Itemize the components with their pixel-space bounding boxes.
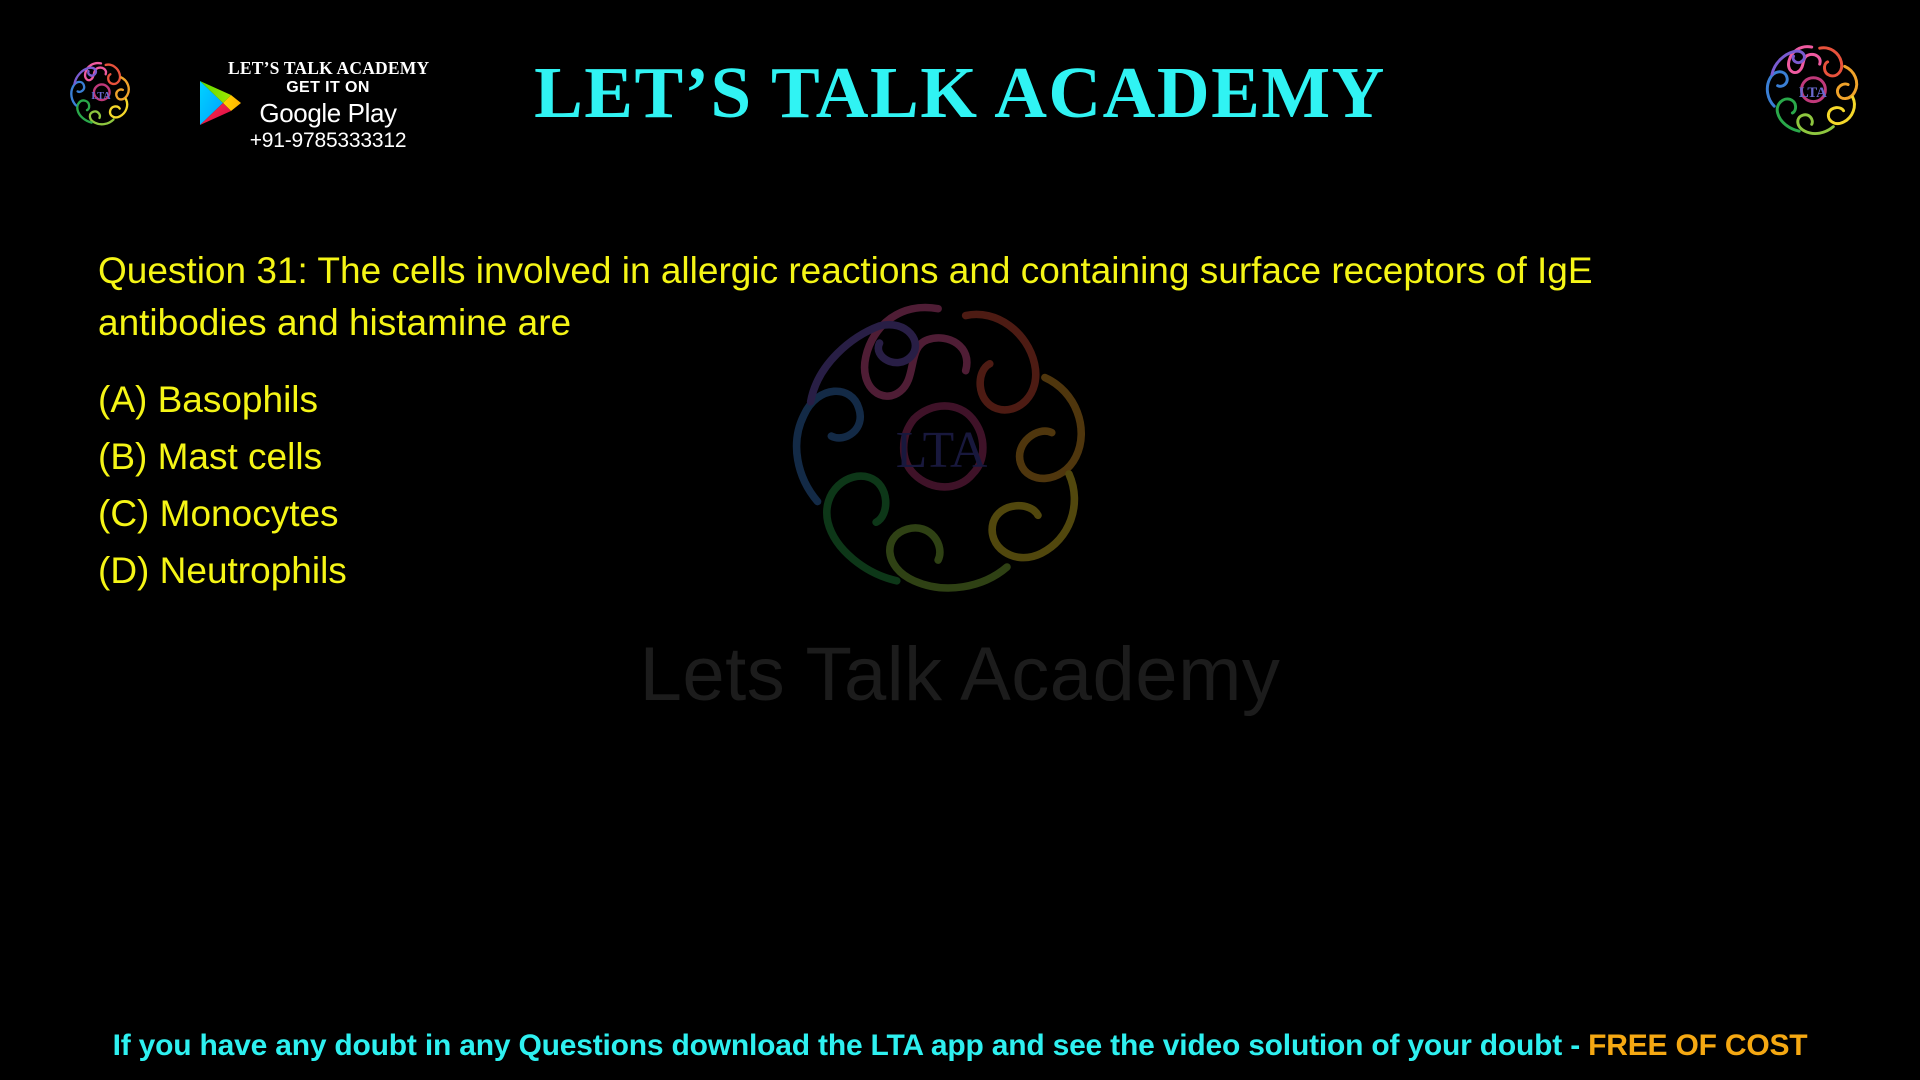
footer-separator: -	[1562, 1029, 1588, 1062]
page-header: LTA	[0, 0, 1920, 180]
option-b[interactable]: (B) Mast cells	[98, 428, 1738, 485]
option-a[interactable]: (A) Basophils	[98, 371, 1738, 428]
question-statement: Question 31: The cells involved in aller…	[98, 245, 1733, 349]
option-d[interactable]: (D) Neutrophils	[98, 542, 1738, 599]
page-footer: If you have any doubt in any Questions d…	[0, 1024, 1920, 1068]
watermark-brand-text: Lets Talk Academy	[0, 630, 1920, 720]
footer-free-badge: FREE OF COST	[1588, 1029, 1807, 1062]
question-content: Question 31: The cells involved in aller…	[98, 245, 1738, 599]
lta-protein-logo-icon: LTA	[1756, 38, 1872, 138]
svg-text:LTA: LTA	[1799, 85, 1827, 101]
page-title: LET’S TALK ACADEMY	[0, 50, 1920, 136]
footer-message: If you have any doubt in any Questions d…	[113, 1029, 1563, 1062]
option-c[interactable]: (C) Monocytes	[98, 485, 1738, 542]
answer-options-list: (A) Basophils (B) Mast cells (C) Monocyt…	[98, 371, 1738, 599]
